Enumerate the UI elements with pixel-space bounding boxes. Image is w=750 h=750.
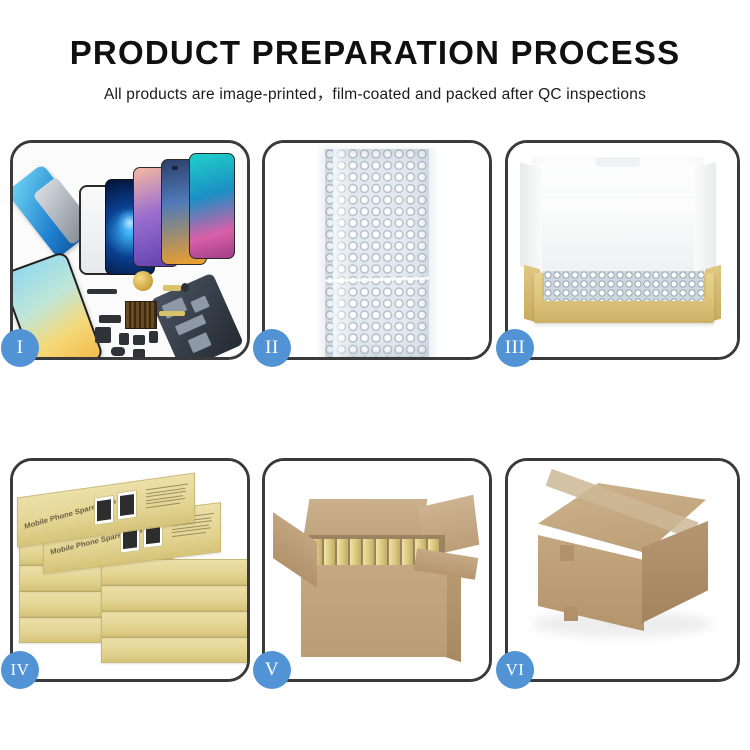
process-step-grid: I II xyxy=(0,0,750,750)
bubble-wrap-illustration xyxy=(265,143,489,357)
step-image-sealed-carton xyxy=(508,461,737,679)
step-badge-6: VI xyxy=(496,651,534,689)
open-mailer-box-illustration xyxy=(508,143,737,357)
step-badge-2: II xyxy=(253,329,291,367)
step-image-products xyxy=(13,143,247,357)
teal-phone-icon xyxy=(189,153,235,259)
step-panel-1[interactable]: I xyxy=(10,140,250,360)
phones-and-parts-illustration xyxy=(13,143,247,357)
step-image-open-carton xyxy=(265,461,489,679)
stacked-box xyxy=(101,585,247,611)
bubble-wrapped-contents-icon xyxy=(544,271,704,301)
chip-array-icon xyxy=(125,301,157,329)
step-badge-1: I xyxy=(1,329,39,367)
step-image-box-stack: Mobile Phone Spare Parts Mobile Phone Sp… xyxy=(13,461,247,679)
step-panel-3[interactable]: III xyxy=(505,140,740,360)
stacked-boxes-illustration: Mobile Phone Spare Parts Mobile Phone Sp… xyxy=(13,461,247,679)
carton-tab-icon xyxy=(564,607,578,621)
step-panel-4[interactable]: Mobile Phone Spare Parts Mobile Phone Sp… xyxy=(10,458,250,682)
step-image-inner-box xyxy=(508,143,737,357)
stacked-box xyxy=(101,637,247,663)
open-carton-illustration xyxy=(265,461,489,679)
sealed-carton-illustration xyxy=(508,461,737,679)
step-panel-6[interactable]: VI xyxy=(505,458,740,682)
carton-body-icon xyxy=(301,565,447,657)
spare-parts-group xyxy=(85,271,205,357)
foam-insert-icon xyxy=(542,199,694,277)
step-badge-3: III xyxy=(496,329,534,367)
carton-tab-icon xyxy=(560,545,574,561)
stacked-box xyxy=(101,611,247,637)
bubble-wrap-pouch-icon xyxy=(325,149,429,357)
step-panel-5[interactable]: V xyxy=(262,458,492,682)
speaker-coil-icon xyxy=(133,271,153,291)
step-badge-4: IV xyxy=(1,651,39,689)
step-image-bubble-wrap xyxy=(265,143,489,357)
step-badge-5: V xyxy=(253,651,291,689)
step-panel-2[interactable]: II xyxy=(262,140,492,360)
